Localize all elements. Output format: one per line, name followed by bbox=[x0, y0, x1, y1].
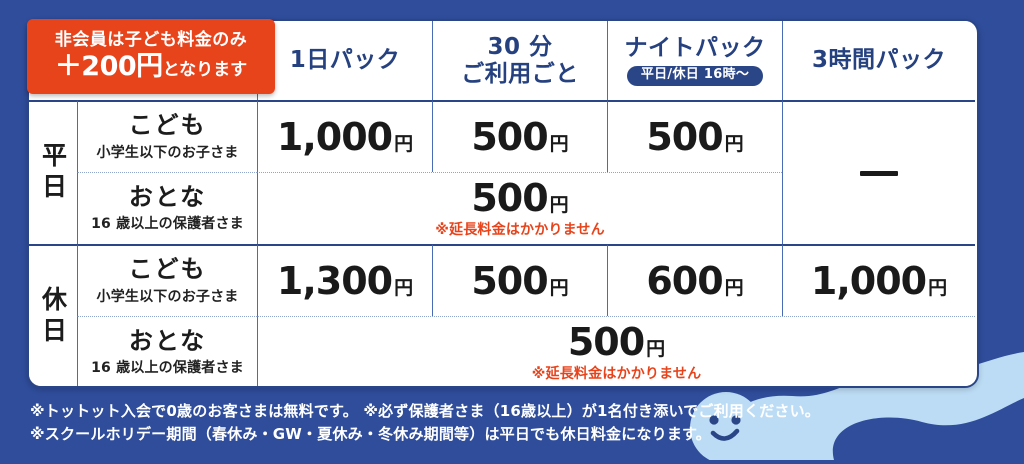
price-holiday-child-3hour-pack: 1,000円 bbox=[782, 244, 975, 316]
column-header-label: 1日パック bbox=[290, 47, 401, 73]
column-header-3hour-pack: 3時間パック bbox=[782, 21, 975, 100]
price-unit: 円 bbox=[725, 279, 744, 298]
price-value: 1,000円 bbox=[277, 118, 413, 156]
price-unit: 円 bbox=[928, 279, 947, 298]
person-label-weekday-child: こども 小学生以下のお子さま bbox=[77, 100, 257, 172]
price-value: 1,300円 bbox=[277, 262, 413, 300]
price-value: 500円 bbox=[471, 118, 568, 156]
person-sub-label: 16 歳以上の保護者さま bbox=[91, 213, 244, 233]
footer-note-line-2: ※スクールホリデー期間（春休み・GW・夏休み・冬休み期間等）は平日でも休日料金に… bbox=[30, 423, 820, 446]
price-extension-note: ※延長料金はかかりません bbox=[435, 219, 605, 239]
price-value: 500円 bbox=[471, 179, 568, 217]
person-main-label: おとな bbox=[129, 184, 206, 210]
price-unit: 円 bbox=[550, 196, 569, 215]
price-unit: 円 bbox=[394, 135, 413, 154]
price-amount: 600 bbox=[646, 262, 722, 300]
price-value: 600円 bbox=[646, 262, 743, 300]
price-extension-note: ※延長料金はかかりません bbox=[532, 363, 702, 383]
price-amount: 500 bbox=[471, 179, 547, 217]
column-header-night-pack: ナイトパック 平日/休日 16時〜 bbox=[607, 21, 782, 100]
day-label-text: 休日 bbox=[41, 286, 66, 348]
row-group-label-holiday: 休日 bbox=[29, 244, 77, 388]
price-amount: 1,000 bbox=[277, 118, 392, 156]
price-value: 500円 bbox=[646, 118, 743, 156]
price-value: 500円 bbox=[471, 262, 568, 300]
person-label-holiday-adult: おとな 16 歳以上の保護者さま bbox=[77, 316, 257, 388]
person-main-label: こども bbox=[129, 256, 207, 282]
price-holiday-adult-merged: 500円 ※延長料金はかかりません bbox=[257, 316, 975, 388]
column-header-day-pack: 1日パック bbox=[257, 21, 432, 100]
non-member-surcharge-badge: 非会員は子ども料金のみ ＋200円となります bbox=[27, 19, 275, 94]
price-unit: 円 bbox=[646, 340, 665, 359]
column-header-sublabel: ご利用ごと bbox=[461, 61, 579, 87]
person-sub-label: 小学生以下のお子さま bbox=[97, 142, 239, 162]
price-weekday-adult-merged: 500円 ※延長料金はかかりません bbox=[257, 172, 782, 244]
price-holiday-child-night-pack: 600円 bbox=[607, 244, 782, 316]
column-header-label: 30 分 bbox=[487, 34, 552, 60]
footer-note-line-1: ※トットット入会で0歳のお客さまは無料です。 ※必ず保護者さま（16歳以上）が1… bbox=[30, 400, 820, 423]
price-amount: 500 bbox=[646, 118, 722, 156]
column-header-30min: 30 分 ご利用ごと bbox=[432, 21, 607, 100]
day-label-text: 平日 bbox=[41, 142, 66, 204]
person-label-holiday-child: こども 小学生以下のお子さま bbox=[77, 244, 257, 316]
price-value: 500円 bbox=[568, 323, 665, 361]
price-unit: 円 bbox=[550, 279, 569, 298]
dash-icon bbox=[860, 171, 898, 176]
price-weekday-child-day-pack: 1,000円 bbox=[257, 100, 432, 172]
price-unit: 円 bbox=[725, 135, 744, 154]
price-weekday-child-night-pack: 500円 bbox=[607, 100, 782, 172]
badge-line-1: 非会員は子ども料金のみ bbox=[55, 31, 248, 50]
price-holiday-child-30min: 500円 bbox=[432, 244, 607, 316]
person-sub-label: 16 歳以上の保護者さま bbox=[91, 357, 244, 377]
person-main-label: こども bbox=[129, 112, 207, 138]
price-value: 1,000円 bbox=[811, 262, 947, 300]
price-holiday-child-day-pack: 1,300円 bbox=[257, 244, 432, 316]
column-header-label: ナイトパック bbox=[625, 35, 766, 61]
price-unit: 円 bbox=[550, 135, 569, 154]
person-sub-label: 小学生以下のお子さま bbox=[97, 286, 239, 306]
price-amount: 500 bbox=[471, 118, 547, 156]
badge-line-2: ＋200円となります bbox=[55, 51, 247, 82]
price-weekday-3hour-unavailable bbox=[782, 100, 975, 244]
price-weekday-child-30min: 500円 bbox=[432, 100, 607, 172]
person-label-weekday-adult: おとな 16 歳以上の保護者さま bbox=[77, 172, 257, 244]
badge-surcharge-amount: ＋200円 bbox=[55, 51, 163, 82]
price-amount: 500 bbox=[471, 262, 547, 300]
night-pack-time-badge: 平日/休日 16時〜 bbox=[627, 66, 763, 86]
price-unit: 円 bbox=[394, 279, 413, 298]
blob-shape-navy bbox=[833, 398, 1024, 460]
column-header-label: 3時間パック bbox=[812, 47, 946, 73]
price-amount: 1,000 bbox=[811, 262, 926, 300]
row-group-label-weekday: 平日 bbox=[29, 100, 77, 244]
price-amount: 1,300 bbox=[277, 262, 392, 300]
person-main-label: おとな bbox=[129, 328, 206, 354]
badge-surcharge-suffix: となります bbox=[163, 60, 248, 80]
price-amount: 500 bbox=[568, 323, 644, 361]
footer-notes: ※トットット入会で0歳のお客さまは無料です。 ※必ず保護者さま（16歳以上）が1… bbox=[30, 400, 820, 447]
